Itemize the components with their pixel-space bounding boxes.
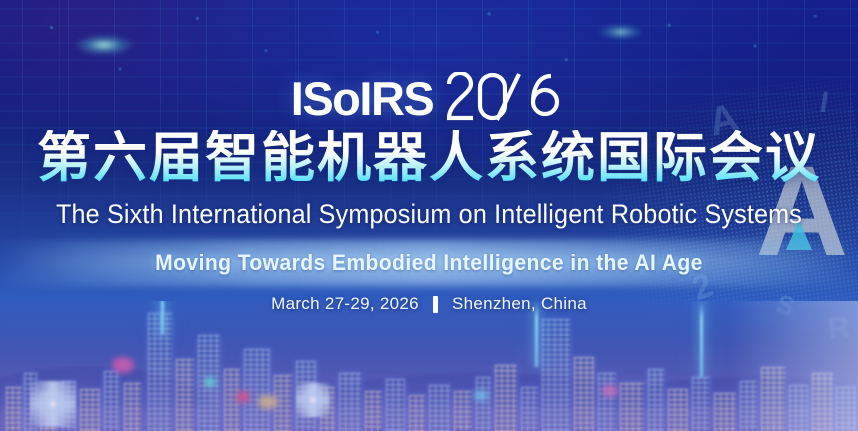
meta-separator-icon — [433, 296, 438, 313]
event-location: Shenzhen, China — [452, 294, 587, 314]
logo-acronym: ISoIRS — [291, 75, 433, 122]
logo-year — [447, 72, 567, 122]
conference-banner: A A I 2 S R — [0, 0, 858, 431]
banner-content: ISoIRS — [0, 0, 858, 431]
event-meta: March 27-29, 2026 Shenzhen, China — [0, 294, 858, 314]
conference-theme: Moving Towards Embodied Intelligence in … — [17, 250, 841, 276]
event-logo: ISoIRS — [0, 68, 858, 122]
conference-title-english: The Sixth International Symposium on Int… — [30, 199, 828, 230]
conference-title-chinese: 第六届智能机器人系统国际会议 — [0, 130, 858, 187]
event-date: March 27-29, 2026 — [271, 294, 419, 314]
